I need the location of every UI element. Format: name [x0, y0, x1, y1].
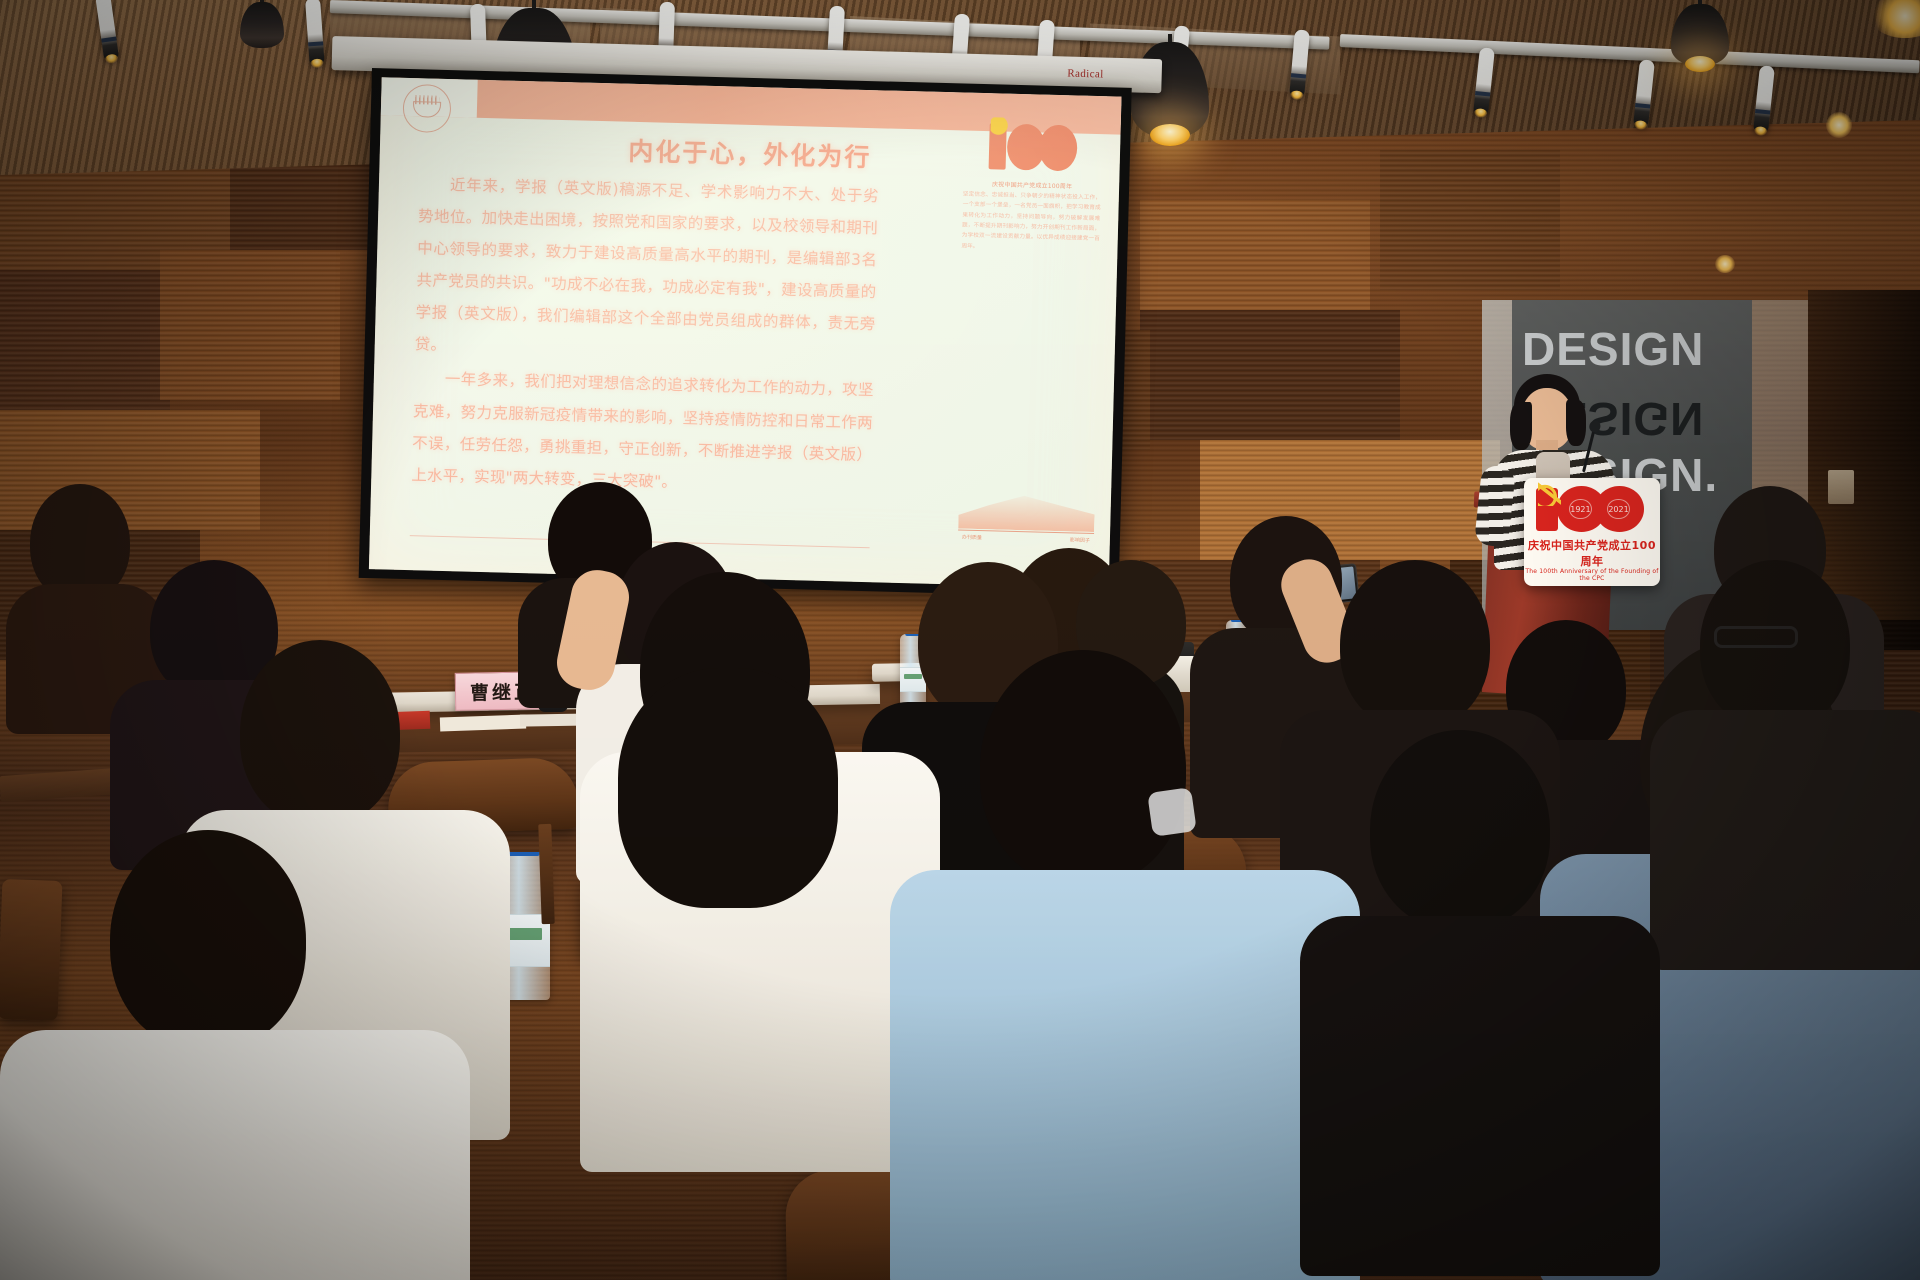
- eyeglasses-icon: [1714, 626, 1798, 648]
- recessed-downlight: [1826, 112, 1852, 138]
- paper-sheet: [440, 715, 526, 732]
- pendant-lamp: [1168, 34, 1172, 48]
- banner-chinese-caption: 庆祝中国共产党成立100周年: [1524, 537, 1660, 569]
- person-torso: [890, 870, 1360, 1280]
- wall-slat: [0, 270, 170, 410]
- person-torso: [0, 1030, 470, 1280]
- wall-switch-plate[interactable]: [1828, 470, 1854, 504]
- cpc-100-badge-icon: [986, 119, 1079, 175]
- banner-english-caption: The 100th Anniversary of the Founding of…: [1524, 568, 1660, 582]
- wall-slat: [160, 250, 340, 400]
- slide-side-text: 坚定信念、忠诚担当、只争朝夕的精神状态投入工作，一个支部一个堡垒，一名党员一面旗…: [957, 189, 1105, 255]
- person-torso: [1300, 916, 1660, 1276]
- hammer-sickle-icon: [1538, 482, 1561, 505]
- pendant-lamp: [1698, 0, 1702, 10]
- design-wall-text: DESIGN: [1522, 322, 1752, 376]
- person-head: [240, 640, 400, 826]
- slide-side-chart: 办刊质量 影响因子: [958, 487, 1095, 545]
- person-head: [980, 650, 1186, 886]
- presentation-slide: 内化于心，外化为行 近年来，学报（英文版)稿源不足、学术影响力不大、处于劣势地位…: [369, 77, 1122, 588]
- projection-screen-frame: 内化于心，外化为行 近年来，学报（英文版)稿源不足、学术影响力不大、处于劣势地位…: [359, 68, 1132, 598]
- speaker-hair-side: [1566, 400, 1586, 446]
- conference-photo-scene: Radical 内化于心，外化为行 近年来，学报（英文版)稿源不足、学术影响力不…: [0, 0, 1920, 1280]
- recessed-downlight: [1715, 255, 1735, 273]
- pendant-lamp: [260, 0, 264, 8]
- wall-slat: [1140, 310, 1400, 440]
- person-head: [110, 830, 306, 1050]
- pendant-lamp: [532, 0, 536, 14]
- chair: [0, 879, 62, 1021]
- podium-cpc-100-banner: 1921 2021 庆祝中国共产党成立100周年 The 100th Anniv…: [1524, 478, 1660, 586]
- person-head: [1340, 560, 1490, 730]
- person-torso: [1650, 710, 1920, 970]
- chart-label-left: 办刊质量: [962, 534, 982, 542]
- slide-paragraph-1: 近年来，学报（英文版)稿源不足、学术影响力不大、处于劣势地位。加快走出困境，按照…: [414, 168, 879, 372]
- screen-brand-label: Radical: [1067, 68, 1104, 81]
- speaker-hair-side: [1510, 402, 1532, 450]
- face-mask: [1147, 787, 1197, 837]
- person-head: [1370, 730, 1550, 930]
- chart-label-right: 影响因子: [1070, 536, 1090, 544]
- person-hair-long: [618, 668, 838, 908]
- slide-paragraph-2: 一年多来，我们把对理想信念的追求转化为工作的动力，攻坚克难，努力克服新冠疫情带来…: [411, 363, 874, 503]
- wall-slat: [1380, 150, 1560, 290]
- slide-side-column: 庆祝中国共产党成立100周年 坚定信念、忠诚担当、只争朝夕的精神状态投入工作，一…: [957, 118, 1106, 255]
- wall-slat: [1140, 200, 1370, 310]
- slide-body-text: 近年来，学报（英文版)稿源不足、学术影响力不大、处于劣势地位。加快走出困境，按照…: [411, 168, 879, 505]
